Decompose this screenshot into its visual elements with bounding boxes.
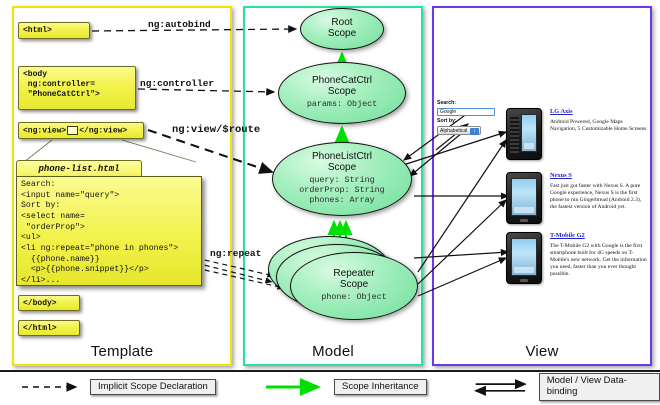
scope-root: Root Scope <box>300 8 384 50</box>
sort-label: Sort by: <box>437 118 499 125</box>
panel-model-label: Model <box>245 343 421 360</box>
legend-label-scope-inheritance: Scope Inheritance <box>334 379 427 396</box>
edge-label-repeat: ng:repeat <box>210 248 261 259</box>
scope-phonecatctrl: PhoneCatCtrl Scope params: Object <box>278 62 406 124</box>
legend-item-implicit-scope: Implicit Scope Declaration <box>18 378 216 396</box>
ngview-close-tag: </ng:view> <box>79 127 127 136</box>
legend-label-data-binding: Model / View Data-binding <box>539 373 660 401</box>
scope-repeater-stack: Repeater Scope phone: Object <box>268 236 418 322</box>
code-box-html-close: </html> <box>18 320 80 336</box>
code-box-body-close: </body> <box>18 295 80 311</box>
scope-phonelistctrl: PhoneListCtrl Scope query: String orderP… <box>272 142 412 216</box>
scope-phonecatctrl-name: PhoneCatCtrl Scope <box>312 76 372 98</box>
diagram-canvas: Template Model View <box>0 0 660 405</box>
phone-info: T-Mobile G2 The T-Mobile G2 with Google … <box>550 232 648 278</box>
phone-list-code: Search: <input name="query"> Sort by: <s… <box>16 176 202 286</box>
dashed-arrow-icon <box>18 378 84 396</box>
legend-label-implicit-scope: Implicit Scope Declaration <box>90 379 216 396</box>
scope-phonelistctrl-name: PhoneListCtrl Scope <box>312 152 372 174</box>
phone-home-button-icon <box>520 279 528 282</box>
phone-description: The T-Mobile G2 with Google is the first… <box>550 243 648 279</box>
phone-info: Nexus S Fast just got faster with Nexus … <box>550 172 648 211</box>
phone-screen <box>511 238 537 276</box>
phone-list-html-card: phone-list.html Search: <input name="que… <box>16 160 206 288</box>
sort-select[interactable]: Alphabetical ↕ <box>437 126 481 135</box>
solid-arrow-icon <box>262 378 328 396</box>
edge-label-controller: ng:controller <box>140 78 214 89</box>
scope-repeater-props: phone: Object <box>321 293 386 303</box>
panel-view-label: View <box>434 343 650 360</box>
scope-phonecatctrl-props: params: Object <box>307 100 377 110</box>
legend-divider <box>0 370 660 372</box>
code-box-html-open: <html> <box>18 22 90 39</box>
chevron-down-icon: ↕ <box>470 128 479 135</box>
phone-screen <box>511 178 537 216</box>
phone-description: Fast just got faster with Nexus S. A pur… <box>550 183 648 212</box>
scope-root-name: Root Scope <box>328 18 356 40</box>
phone-thumbnail-image <box>506 232 542 284</box>
code-box-body-open: <body ng:controller= "PhoneCatCtrl"> <box>18 66 136 110</box>
phone-home-button-icon <box>520 219 528 222</box>
ngview-placeholder-icon <box>67 126 78 135</box>
phone-name-link[interactable]: LG Axis <box>550 108 648 116</box>
edge-label-route: ng:view/$route <box>172 124 260 136</box>
panel-template-label: Template <box>14 343 230 360</box>
view-search-form: Search: Google Sort by: Alphabetical ↕ <box>437 100 499 135</box>
scope-phonelistctrl-props: query: String orderProp: String phones: … <box>299 176 384 206</box>
double-arrow-icon <box>470 378 533 396</box>
legend-item-scope-inheritance: Scope Inheritance <box>262 378 427 396</box>
scope-repeater-name: Repeater Scope <box>333 269 374 291</box>
phone-name-link[interactable]: Nexus S <box>550 172 648 180</box>
phone-description: Android Powered, Google Maps Navigation,… <box>550 119 648 133</box>
edge-label-autobind: ng:autobind <box>148 19 211 30</box>
ngview-open-tag: <ng:view> <box>23 127 66 136</box>
search-label: Search: <box>437 100 499 107</box>
code-box-ngview: <ng:view></ng:view> <box>18 122 144 139</box>
phone-thumbnail-image <box>506 172 542 224</box>
search-input[interactable]: Google <box>437 108 495 116</box>
scope-repeater-front: Repeater Scope phone: Object <box>290 252 418 320</box>
sort-select-value: Alphabetical <box>440 128 467 134</box>
legend-item-data-binding: Model / View Data-binding <box>470 378 660 396</box>
legend: Implicit Scope Declaration Scope Inherit… <box>0 370 660 405</box>
phone-info: LG Axis Android Powered, Google Maps Nav… <box>550 108 648 133</box>
phone-screen <box>521 114 537 152</box>
phone-thumbnail-image <box>506 108 542 160</box>
phone-name-link[interactable]: T-Mobile G2 <box>550 232 648 240</box>
